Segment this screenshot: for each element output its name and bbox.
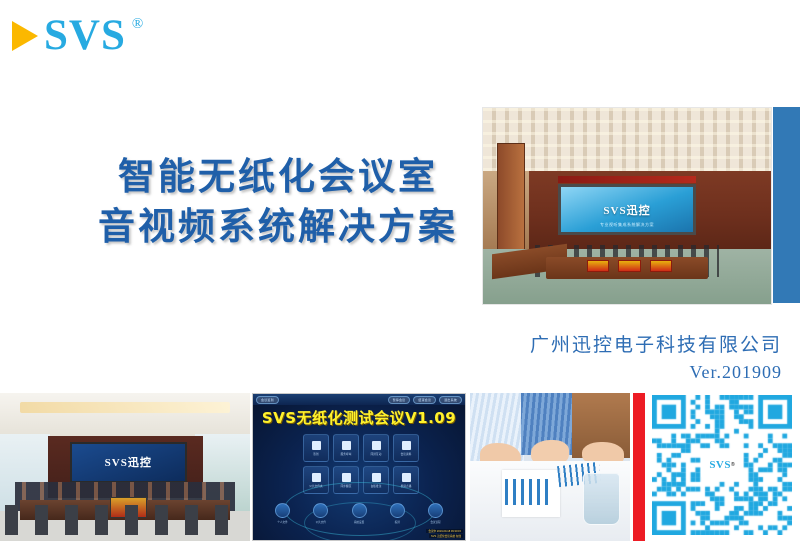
app-status-line-2: SVS 无纸化会议系统 在线 [429,534,463,538]
qr-code[interactable]: SVS® [652,395,792,535]
play-triangle-icon [12,21,38,51]
photo1-screen-text: SVS迅控 [105,454,152,470]
app-tile-label: 同屏互动 [371,452,382,456]
app-dock: 个人文件 公共文件 系统设置 投屏 会议议程 [275,503,443,524]
qr-code-block: SVS® [652,395,792,537]
hero-flag-2 [618,260,640,272]
dock-settings[interactable]: 系统设置 [352,503,367,524]
dock-agenda[interactable]: 会议议程 [428,503,443,524]
dock-label: 会议议程 [430,520,440,524]
dock-label: 公共文件 [316,520,326,524]
end-meeting-button[interactable]: 结束会议 [413,396,436,404]
dock-public-files[interactable]: 公共文件 [313,503,328,524]
paperless-conference-app[interactable]: 会议签到 暂停会议 结束会议 退出系统 SVS无纸化测试会议V1.09 签到 服… [252,393,466,541]
folder-icon [312,473,321,482]
qr-center-label: SVS [709,459,731,471]
app-tile-label: 会议资料 [401,452,412,456]
dock-label: 系统设置 [354,520,364,524]
video-icon [402,473,411,482]
dock-personal-files[interactable]: 个人文件 [275,503,290,524]
list-icon [428,503,443,518]
photo1-chairs [5,505,245,535]
hero-screen-subtitle: 专业视听集成系统解决方案 [561,222,693,228]
monitor-icon [372,441,381,450]
exit-system-button[interactable]: 退出系统 [439,396,462,404]
slide-root: SVS ® 智能无纸化会议室 音视频系统解决方案 SVS迅控 专业视听集成系统解… [0,0,800,541]
qr-center-logo: SVS® [701,451,743,479]
refresh-icon [342,473,351,482]
red-accent-bar [633,393,645,541]
hero-conference-room-image: SVS迅控 专业视听集成系统解决方案 [482,107,772,305]
dock-share[interactable]: 投屏 [390,503,405,524]
user-icon [275,503,290,518]
dock-label: 投屏 [395,520,400,524]
share-icon [390,503,405,518]
version-label: Ver.201909 [690,362,783,383]
app-tile-service-call[interactable]: 服务呼叫 [333,434,359,462]
app-tile-materials[interactable]: 会议资料 [393,434,419,462]
hero-screen-brand: SVS迅控 [603,202,650,218]
hero-ceiling [483,108,771,171]
photo2-water-glass [583,473,620,525]
svs-logo: SVS ® [12,14,143,57]
gear-icon [352,503,367,518]
team-discussion-photo [470,393,630,541]
title-line-1: 智能无纸化会议室 [78,152,478,202]
hero-flag-3 [650,260,672,272]
app-top-bar: 会议签到 暂停会议 结束会议 退出系统 [253,394,465,405]
hero-flag-1 [587,260,609,272]
photo1-screen: SVS迅控 [70,442,187,483]
company-name: 广州迅控电子科技有限公司 [530,330,782,357]
hero-led-screen: SVS迅控 专业视听集成系统解决方案 [558,184,696,235]
logo-wordmark: SVS [44,14,126,57]
app-tile-screen-share[interactable]: 同屏互动 [363,434,389,462]
book-icon [402,441,411,450]
bottle-icon [342,441,351,450]
app-top-actions: 暂停会议 结束会议 退出系统 [388,396,462,404]
blue-accent-bar [773,107,800,303]
photo2-chart-bars [505,479,553,506]
dock-label: 个人文件 [277,520,287,524]
app-title: SVS无纸化测试会议V1.09 [253,407,465,428]
camera-icon [372,473,381,482]
signin-button[interactable]: 会议签到 [256,396,279,404]
clipboard-icon [312,441,321,450]
page-title: 智能无纸化会议室 音视频系统解决方案 [78,152,478,252]
doc-icon [313,503,328,518]
app-status-bar: 会议中 2019-09-18 09:30:15 SVS 无纸化会议系统 在线 [426,529,463,538]
registered-trademark-icon: ® [132,16,143,33]
meeting-room-photo: SVS迅控 [0,393,250,541]
qr-center-trademark: ® [731,462,735,468]
title-line-2: 音视频系统解决方案 [78,202,478,252]
app-tile-label: 签到 [313,452,318,456]
bottom-image-strip: SVS迅控 会议签到 暂停会议 结束会议 退出系统 SVS无纸化测试会议V1.0… [0,393,800,541]
app-tile-signin[interactable]: 签到 [303,434,329,462]
app-tile-label: 服务呼叫 [341,452,352,456]
pause-meeting-button[interactable]: 暂停会议 [388,396,411,404]
hero-banner [558,176,696,184]
app-status-line-1: 会议中 2019-09-18 09:30:15 [426,529,463,533]
